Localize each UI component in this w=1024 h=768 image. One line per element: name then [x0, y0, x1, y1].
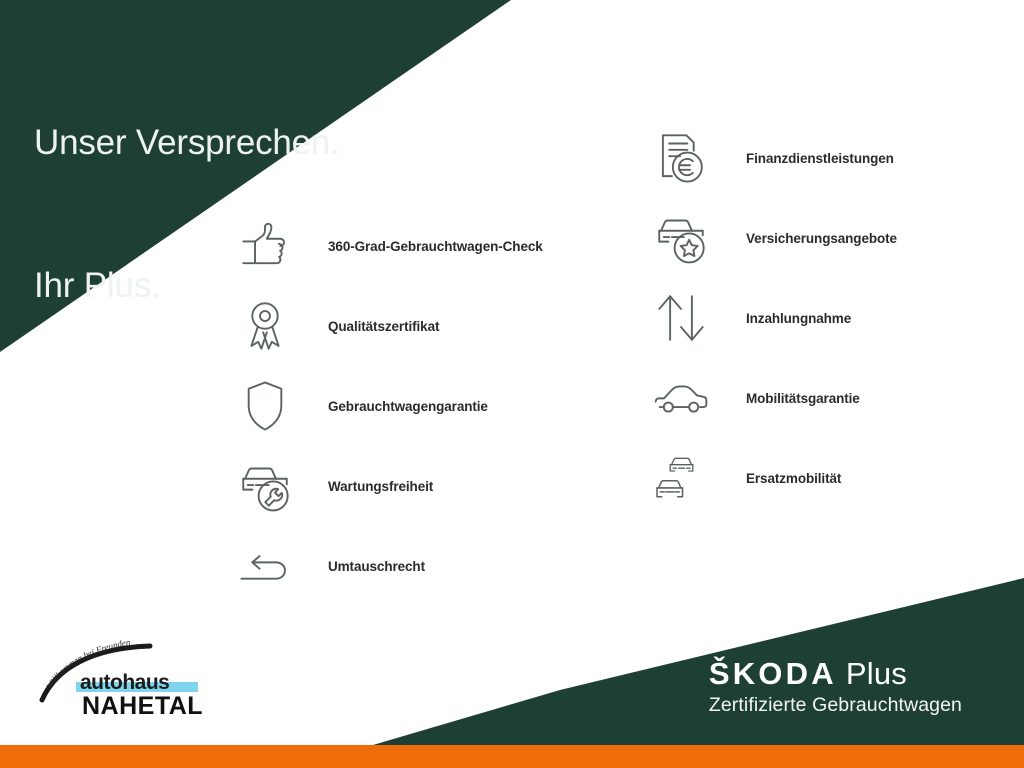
- feature-item-replacement-mobility: Ersatzmobilität: [648, 438, 897, 518]
- feature-label: Qualitätszertifikat: [328, 319, 439, 334]
- skoda-plus-brand: ŠKODA Plus Zertifizierte Gebrauchtwagen: [709, 658, 962, 716]
- brand-name-row: ŠKODA Plus: [709, 658, 962, 689]
- up-down-arrows-icon: [648, 285, 714, 351]
- document-euro-icon: [648, 125, 714, 191]
- feature-label: Ersatzmobilität: [746, 471, 841, 486]
- feature-label: Gebrauchtwagengarantie: [328, 399, 488, 414]
- two-cars-icon: [648, 445, 714, 511]
- feature-item-financial-services: Finanzdienstleistungen: [648, 118, 897, 198]
- feature-item-mobility-guarantee: Mobilitätsgarantie: [648, 358, 897, 438]
- orange-bottom-bar: [0, 745, 1024, 768]
- brand-tagline: Zertifizierte Gebrauchtwagen: [709, 696, 962, 716]
- car-side-icon: [648, 365, 714, 431]
- feature-label: Wartungsfreiheit: [328, 479, 433, 494]
- feature-label: Finanzdienstleistungen: [746, 151, 894, 166]
- feature-item-return-right: Umtauschrecht: [232, 526, 543, 606]
- feature-item-maintenance: Wartungsfreiheit: [232, 446, 543, 526]
- headline-line-1: Unser Versprechen.: [34, 119, 340, 167]
- feature-item-trade-in: Inzahlungnahme: [648, 278, 897, 358]
- car-star-icon: [648, 205, 714, 271]
- feature-label: Versicherungsangebote: [746, 231, 897, 246]
- feature-item-insurance: Versicherungsangebote: [648, 198, 897, 278]
- feature-label: 360-Grad-Gebrauchtwagen-Check: [328, 239, 543, 254]
- logo-word-autohaus: autohaus: [80, 671, 169, 694]
- promotional-slide: Unser Versprechen. Ihr Plus. 360-Grad-Ge…: [0, 0, 1024, 768]
- dealer-logo: Willkommen bei Freunden autohaus NAHETAL: [32, 632, 232, 724]
- logo-word-nahetal: NAHETAL: [82, 692, 203, 720]
- feature-label: Umtauschrecht: [328, 559, 425, 574]
- return-arrow-icon: [232, 533, 298, 599]
- feature-list-right: Finanzdienstleistungen Versicherungsange…: [648, 118, 897, 518]
- feature-label: Mobilitätsgarantie: [746, 391, 860, 406]
- feature-label: Inzahlungnahme: [746, 311, 851, 326]
- skoda-wordmark: ŠKODA: [709, 656, 837, 691]
- plus-wordmark: Plus: [846, 656, 907, 691]
- headline-line-2: Ihr Plus.: [34, 262, 340, 310]
- car-wrench-icon: [232, 453, 298, 519]
- page-title: Unser Versprechen. Ihr Plus.: [34, 24, 340, 405]
- dealer-logo-graphic: Willkommen bei Freunden autohaus NAHETAL: [32, 632, 232, 724]
